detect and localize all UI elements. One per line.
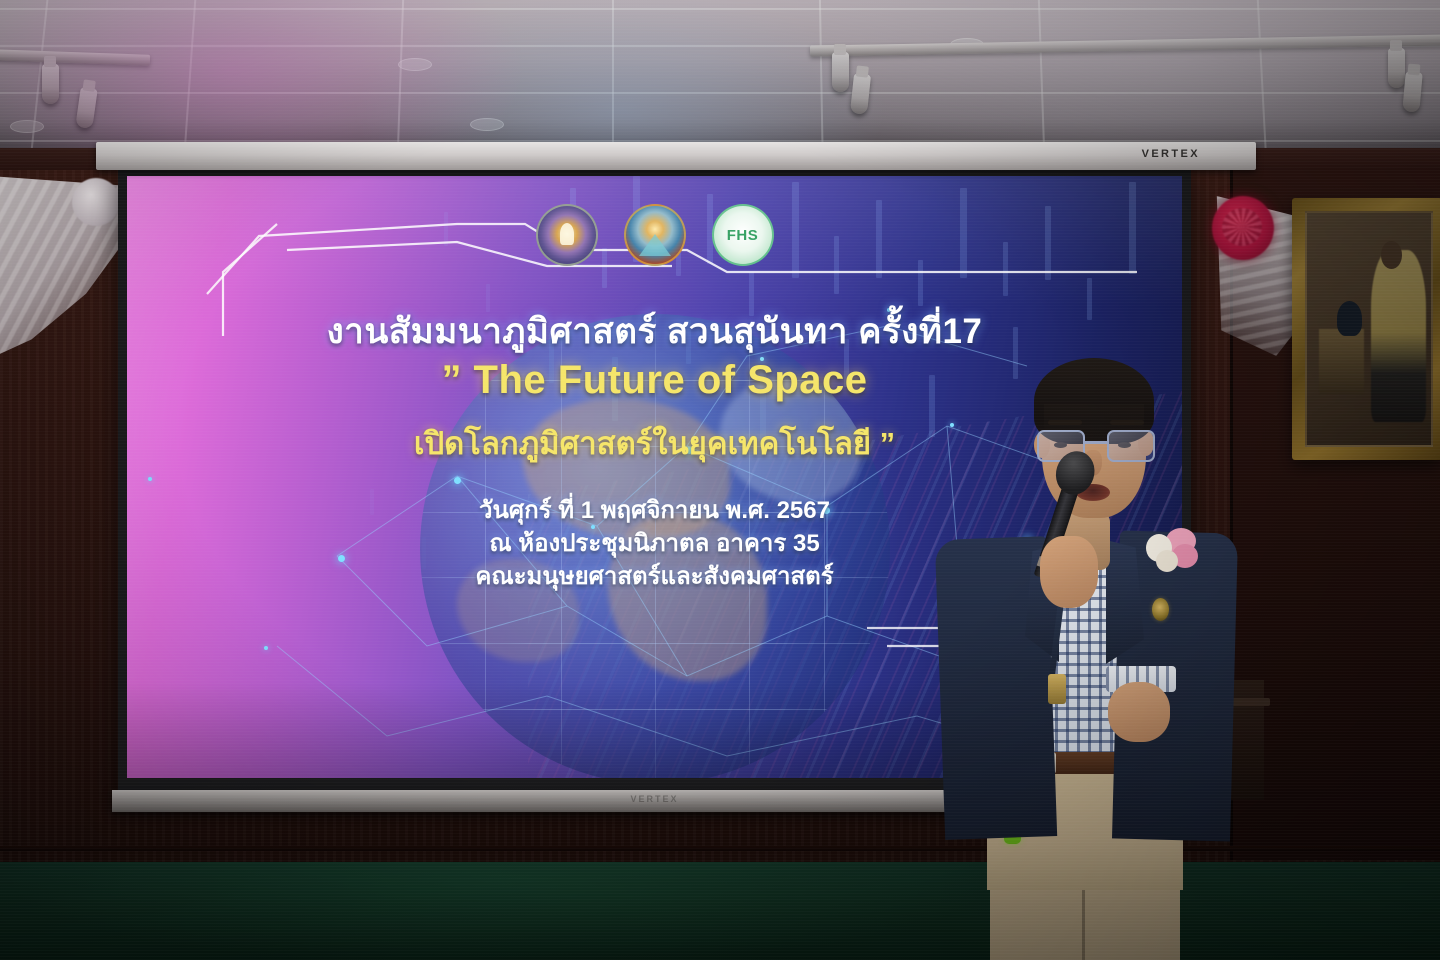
geography-department-logo	[624, 204, 686, 266]
red-rosette-decoration	[1212, 196, 1274, 260]
slide-logo-row: FHS	[536, 204, 774, 266]
ceiling	[0, 0, 1440, 152]
lens-right	[1107, 430, 1155, 462]
fhs-faculty-logo: FHS	[712, 204, 774, 266]
drape-knot-left	[72, 178, 120, 226]
speaker-eyebrow-left	[1048, 420, 1082, 425]
portrait-hat	[1337, 301, 1362, 336]
glasses-bridge	[1085, 441, 1107, 444]
speaker-eyebrow-right	[1110, 420, 1144, 425]
corsage-petal	[1156, 550, 1178, 572]
screen-brand-label-top: VERTEX	[1142, 148, 1200, 160]
portrait-figure	[1371, 250, 1426, 422]
portrait-canvas	[1305, 211, 1433, 447]
projector-screen-housing: VERTEX	[96, 142, 1256, 170]
university-seal-logo	[536, 204, 598, 266]
fhs-logo-text: FHS	[727, 227, 759, 244]
speaker-person	[930, 300, 1260, 960]
portrait-table	[1319, 329, 1364, 394]
photo-scene: VERTEX	[0, 0, 1440, 960]
speaker-hand-right	[1108, 682, 1170, 742]
id-badge	[1048, 674, 1066, 704]
framed-royal-portrait	[1292, 198, 1440, 460]
blazer-crest-badge	[1152, 598, 1169, 621]
flower-corsage	[1144, 522, 1200, 574]
ceiling-light-tint	[0, 0, 1440, 152]
speaker-hand-left	[1040, 536, 1098, 608]
screen-brand-label-bottom: VERTEX	[630, 794, 678, 804]
